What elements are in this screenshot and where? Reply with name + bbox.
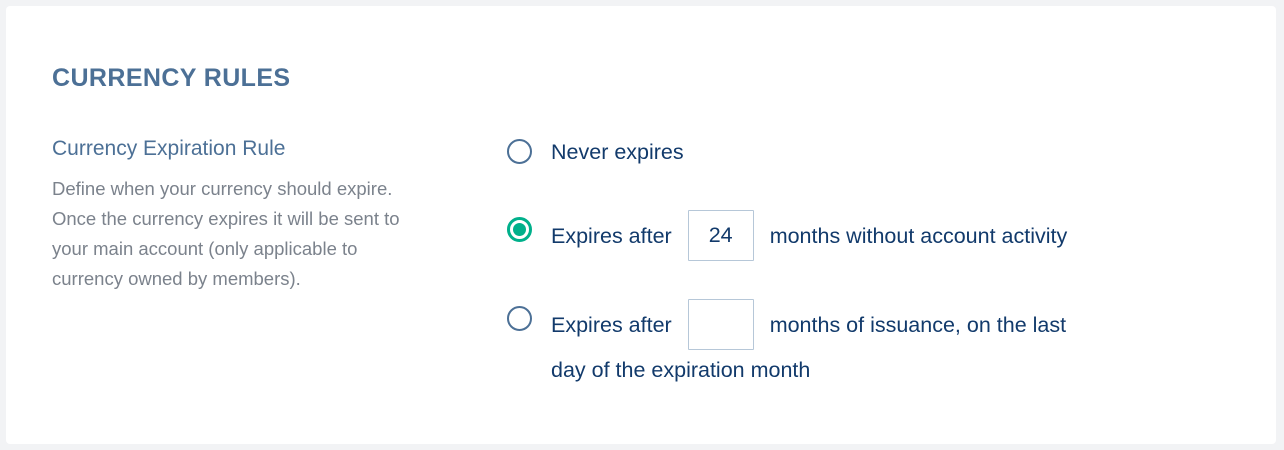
radio-icon-expires-after-inactivity[interactable] — [507, 217, 532, 242]
radio-option-expires-after-inactivity[interactable]: Expires after months without account act… — [507, 210, 1236, 261]
radio-suffix-line2-expires-after-issuance: day of the expiration month — [551, 350, 1066, 390]
months-issuance-input[interactable] — [688, 299, 754, 350]
months-inactivity-input[interactable] — [688, 210, 754, 261]
radio-suffix-expires-after-issuance: months of issuance, on the last — [770, 305, 1066, 345]
field-help-text: Define when your currency should expire.… — [52, 174, 420, 294]
page-title: CURRENCY RULES — [52, 64, 291, 93]
radio-option-body: Expires after months of issuance, on the… — [551, 299, 1066, 390]
radio-option-expires-after-issuance[interactable]: Expires after months of issuance, on the… — [507, 299, 1236, 390]
radio-option-body: Expires after months without account act… — [551, 210, 1067, 261]
expiration-rule-radio-group: Never expires Expires after months witho… — [507, 132, 1236, 390]
radio-option-never-expires[interactable]: Never expires — [507, 132, 1236, 172]
page-background: CURRENCY RULES Currency Expiration Rule … — [0, 0, 1284, 450]
radio-option-body: Never expires — [551, 132, 684, 172]
radio-icon-expires-after-issuance[interactable] — [507, 306, 532, 331]
radio-icon-never-expires[interactable] — [507, 139, 532, 164]
radio-suffix-expires-after-inactivity: months without account activity — [770, 216, 1068, 256]
currency-rules-card: CURRENCY RULES Currency Expiration Rule … — [6, 6, 1276, 444]
radio-label-expires-after-issuance: Expires after — [551, 305, 672, 345]
field-label-currency-expiration-rule: Currency Expiration Rule — [52, 134, 420, 164]
radio-label-expires-after-inactivity: Expires after — [551, 216, 672, 256]
field-description-column: Currency Expiration Rule Define when you… — [52, 134, 420, 294]
radio-label-never-expires: Never expires — [551, 132, 684, 172]
